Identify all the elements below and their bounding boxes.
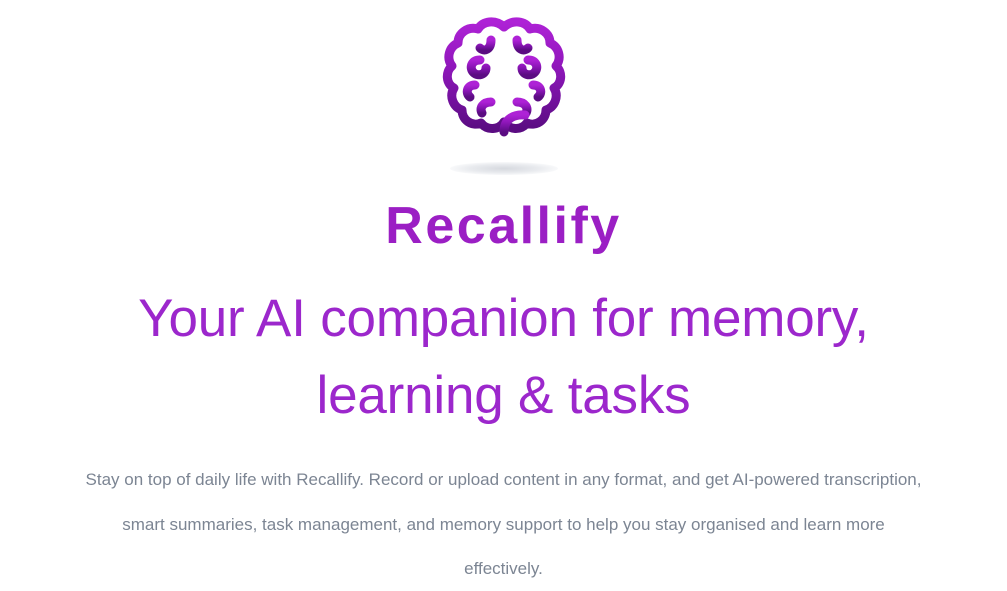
brand-name: Recallify [385, 200, 621, 252]
logo-shadow [450, 162, 558, 175]
brain-icon [439, 14, 569, 159]
subtitle: Stay on top of daily life with Recallify… [81, 458, 926, 591]
hero-section: Recallify Your AI companion for memory, … [0, 0, 1007, 591]
logo-block [414, 14, 594, 166]
headline-line-2: learning & tasks [317, 366, 691, 425]
headline-line-1: Your AI companion for memory, [138, 289, 869, 348]
headline: Your AI companion for memory, learning &… [54, 280, 954, 435]
